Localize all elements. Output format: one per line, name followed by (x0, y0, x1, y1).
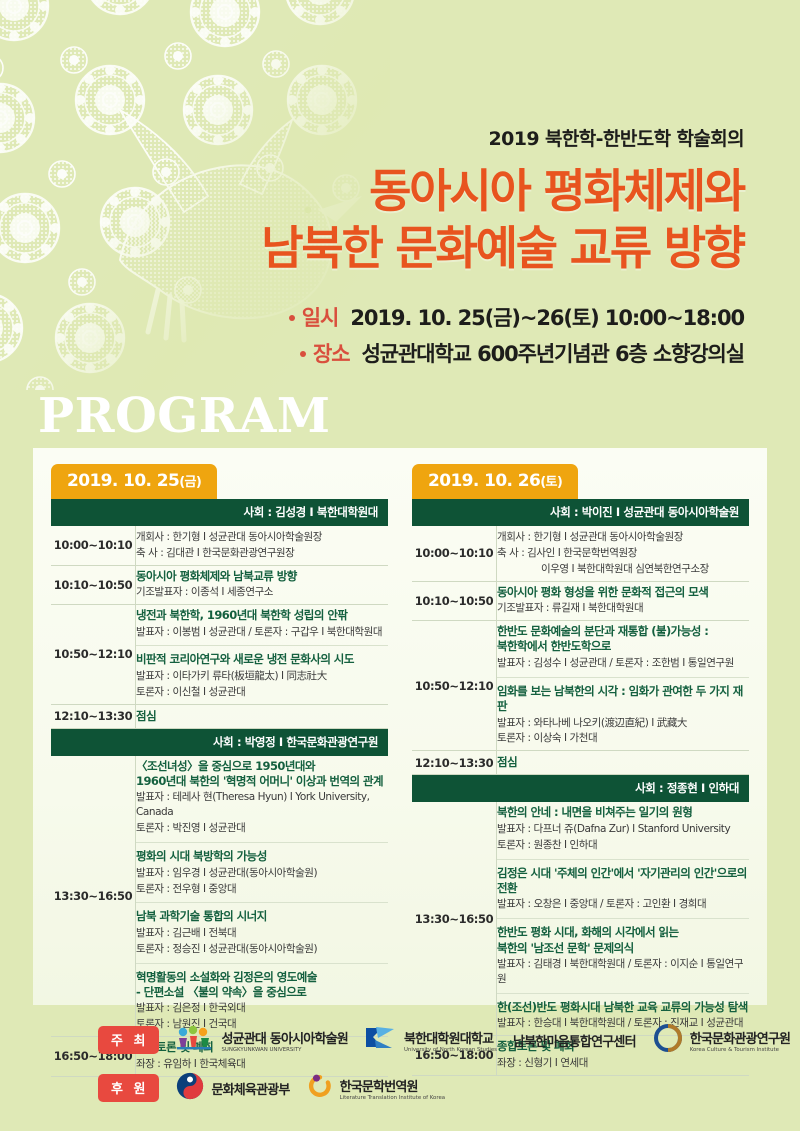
session-cell: 개회사 : 한기형 I 성균관대 동아시아학술원장축 사 : 김사인 I 한국문… (497, 526, 750, 581)
logo-name: 문화체육관광부 (211, 1079, 289, 1098)
host-tag: 주 최 (98, 1026, 159, 1054)
session-cell: 개회사 : 한기형 I 성균관대 동아시아학술원장축 사 : 김대관 I 한국문… (136, 526, 389, 565)
session-people: 토론자 : 정승진 I 성균관대(동아시아학술원) (136, 942, 388, 957)
logo-name: 남북한마음통합연구센터 (513, 1031, 636, 1050)
session-people: 토론자 : 원종찬 I 인하대 (497, 838, 749, 853)
time-cell: 10:50~12:10 (412, 621, 497, 751)
skku-logo-icon (175, 1025, 215, 1055)
session-people: 발표자 : 임우경 I 성균관대(동아시아학술원) (136, 866, 388, 881)
program-column-day2: 2019. 10. 26(토)사회 : 박이진 I 성균관대 동아시아학술원10… (400, 448, 767, 1005)
logo-center-logo: 남북한마음통합연구센터 (513, 1031, 636, 1050)
session-people: 개회사 : 한기형 I 성균관대 동아시아학술원장 (136, 530, 388, 545)
table-row: 10:50~12:10한반도 문화예술의 분단과 재통합 (불)가능성 :북한학… (412, 621, 749, 751)
poster-footer: 주 최성균관대 동아시아학술원SUNGKYUNKWAN UNIVERSITY북한… (0, 1016, 800, 1131)
table-row: 10:10~10:50동아시아 평화 형성을 위한 문화적 접근의 모색기조발표… (412, 581, 749, 620)
page-title: 동아시아 평화체제와 남북한 문화예술 교류 방향 (84, 163, 744, 276)
sponsor-row: 후 원문화체육관광부한국문학번역원Literature Translation … (0, 1064, 800, 1112)
schedule-table: 10:00~10:10개회사 : 한기형 I 성균관대 동아시아학술원장축 사 … (412, 526, 749, 775)
session-people: 발표자 : 와타나베 나오키(渡辺直紀) I 武藏大 (497, 716, 749, 731)
chair-bar: 사회 : 정종현 I 인하대 (412, 775, 749, 802)
session-block: 냉전과 북한학, 1960년대 북한학 성립의 안팎발표자 : 이봉범 I 성균… (136, 605, 388, 643)
session-block: 임화를 보는 남북한의 시각 : 임화가 관여한 두 가지 재판발표자 : 와타… (497, 677, 749, 751)
session-title: 점심 (497, 754, 749, 770)
day-tab-1: 2019. 10. 25(금) (51, 464, 217, 499)
date-value: 2019. 10. 25(금)~26(토) 10:00~18:00 (350, 302, 744, 332)
session-title: 북한의 안네 : 내면을 비쳐주는 일기의 원형 (497, 805, 749, 820)
program-heading: PROGRAM (38, 392, 331, 440)
table-row: 10:10~10:50동아시아 평화체제와 남북교류 방향기조발표자 : 이종석… (51, 565, 388, 604)
session-block: 점심 (136, 705, 388, 728)
chair-bar: 사회 : 김성경 I 북한대학원대 (51, 499, 388, 526)
session-people: 축 사 : 김사인 I 한국문학번역원장 (497, 546, 749, 561)
session-cell: 동아시아 평화체제와 남북교류 방향기조발표자 : 이종석 I 세종연구소 (136, 565, 389, 604)
session-cell: 한반도 문화예술의 분단과 재통합 (불)가능성 :북한학에서 한반도학으로발표… (497, 621, 750, 751)
session-cell: 동아시아 평화 형성을 위한 문화적 접근의 모색기조발표자 : 류길재 I 북… (497, 581, 750, 620)
program-column-day1: 2019. 10. 25(금)사회 : 김성경 I 북한대학원대10:00~10… (33, 448, 400, 1005)
chair-bar: 사회 : 박영정 I 한국문화관광연구원 (51, 729, 388, 756)
session-people: 발표자 : 김근배 I 전북대 (136, 926, 388, 941)
title-line-1: 동아시아 평화체제와 (369, 164, 744, 218)
session-title: 혁명활동의 소설화와 김정은의 영도예술- 단편소설 〈불의 약속〉을 중심으로 (136, 970, 388, 1001)
session-people: 발표자 : 이봉범 I 성균관대 / 토론자 : 구갑우 I 북한대학원대 (136, 625, 388, 640)
session-people: 토론자 : 전우형 I 중앙대 (136, 882, 388, 897)
session-people: 축 사 : 김대관 I 한국문화관광연구원장 (136, 546, 388, 561)
session-block: 동아시아 평화체제와 남북교류 방향기조발표자 : 이종석 I 세종연구소 (136, 566, 388, 604)
mcst-taegeuk-icon (175, 1071, 205, 1105)
ltikorea-logo-icon (306, 1072, 334, 1104)
conference-kicker: 2019 북한학-한반도학 학술회의 (84, 124, 744, 151)
session-people: 개회사 : 한기형 I 성균관대 동아시아학술원장 (497, 530, 749, 545)
session-title: 한반도 평화 시대, 화해의 시각에서 읽는북한의 '남조선 문학' 문제의식 (497, 925, 749, 956)
session-cell: 점심 (497, 751, 750, 775)
session-people: 토론자 : 이신철 I 성균관대 (136, 685, 388, 700)
logo-subtitle: SUNGKYUNKWAN UNIVERSITY (221, 1047, 348, 1053)
session-title: 평화의 시대 북방학의 가능성 (136, 849, 388, 864)
program-panel: 2019. 10. 25(금)사회 : 김성경 I 북한대학원대10:00~10… (33, 448, 767, 1005)
session-block: 동아시아 평화 형성을 위한 문화적 접근의 모색기조발표자 : 류길재 I 북… (497, 582, 749, 620)
table-row: 13:30~16:50〈조선녀성〉을 중심으로 1950년대와1960년대 북한… (51, 756, 388, 1037)
place-value: 성균관대학교 600주년기념관 6층 소향강의실 (362, 338, 744, 368)
date-label: 일시 (302, 302, 339, 332)
sponsor-tag: 후 원 (98, 1074, 159, 1102)
session-block: 한반도 문화예술의 분단과 재통합 (불)가능성 :북한학에서 한반도학으로발표… (497, 621, 749, 675)
logo-unks-logo: 북한대학원대학교University of North Korean Studi… (364, 1024, 497, 1056)
table-row: 13:30~16:50북한의 안네 : 내면을 비쳐주는 일기의 원형발표자 :… (412, 802, 749, 1035)
logo-name: 북한대학원대학교University of North Korean Studi… (404, 1028, 497, 1053)
session-people: 발표자 : 다프너 쥬(Dafna Zur) I Stanford Univer… (497, 822, 749, 837)
table-row: 10:50~12:10냉전과 북한학, 1960년대 북한학 성립의 안팎발표자… (51, 605, 388, 705)
unks-logo-icon (364, 1024, 398, 1056)
session-title: 한(조선)반도 평화시대 남북한 교육 교류의 가능성 탐색 (497, 1000, 749, 1015)
session-block: 〈조선녀성〉을 중심으로 1950년대와1960년대 북한의 '혁명적 어머니'… (136, 756, 388, 841)
session-people: 기조발표자 : 이종석 I 세종연구소 (136, 585, 388, 600)
session-people: 발표자 : 이타가키 류타(板垣龍太) I 同志社大 (136, 669, 388, 684)
time-cell: 10:00~10:10 (51, 526, 136, 565)
session-title: 동아시아 평화체제와 남북교류 방향 (136, 569, 388, 584)
session-people: 토론자 : 박진영 I 성균관대 (136, 821, 388, 836)
meta-row-date: 일시 2019. 10. 25(금)~26(토) 10:00~18:00 (84, 302, 744, 332)
session-title: 한반도 문화예술의 분단과 재통합 (불)가능성 :북한학에서 한반도학으로 (497, 624, 749, 655)
session-block: 남북 과학기술 통합의 시너지발표자 : 김근배 I 전북대토론자 : 정승진 … (136, 902, 388, 960)
session-people: 기조발표자 : 류길재 I 북한대학원대 (497, 601, 749, 616)
session-block: 평화의 시대 북방학의 가능성발표자 : 임우경 I 성균관대(동아시아학술원)… (136, 842, 388, 900)
session-people: 발표자 : 오창은 I 중앙대 / 토론자 : 고인환 I 경희대 (497, 897, 749, 912)
poster-header: 2019 북한학-한반도학 학술회의 동아시아 평화체제와 남북한 문화예술 교… (84, 124, 744, 374)
session-people: 발표자 : 김은정 I 한국외대 (136, 1001, 388, 1016)
session-block: 김정은 시대 '주체의 인간'에서 '자기관리의 인간'으로의 전환발표자 : … (497, 859, 749, 917)
title-line-2: 남북한 문화예술 교류 방향 (84, 220, 744, 277)
logo-subtitle: Literature Translation Institute of Kore… (340, 1095, 445, 1101)
session-cell: 냉전과 북한학, 1960년대 북한학 성립의 안팎발표자 : 이봉범 I 성균… (136, 605, 389, 705)
session-cell: 북한의 안네 : 내면을 비쳐주는 일기의 원형발표자 : 다프너 쥬(Dafn… (497, 802, 750, 1035)
table-row: 10:00~10:10개회사 : 한기형 I 성균관대 동아시아학술원장축 사 … (51, 526, 388, 565)
kcti-logo-icon (652, 1022, 684, 1058)
session-block: 한반도 평화 시대, 화해의 시각에서 읽는북한의 '남조선 문학' 문제의식발… (497, 918, 749, 991)
logo-mcst-taegeuk: 문화체육관광부 (175, 1071, 289, 1105)
session-block: 비판적 코리아연구와 새로운 냉전 문화사의 시도발표자 : 이타가키 류타(板… (136, 645, 388, 703)
time-cell: 12:10~13:30 (412, 751, 497, 775)
session-title: 남북 과학기술 통합의 시너지 (136, 909, 388, 924)
time-cell: 10:50~12:10 (51, 605, 136, 705)
session-title: 점심 (136, 708, 388, 724)
time-cell: 12:10~13:30 (51, 704, 136, 728)
session-title: 김정은 시대 '주체의 인간'에서 '자기관리의 인간'으로의 전환 (497, 866, 749, 897)
logo-subtitle: University of North Korean Studies (404, 1047, 497, 1053)
logo-name: 한국문화관광연구원Korea Culture & Tourism Institu… (690, 1028, 790, 1053)
day-tab-2: 2019. 10. 26(토) (412, 464, 578, 499)
session-cell: 점심 (136, 704, 389, 728)
session-cell: 〈조선녀성〉을 중심으로 1950년대와1960년대 북한의 '혁명적 어머니'… (136, 756, 389, 1037)
logo-skku-logo: 성균관대 동아시아학술원SUNGKYUNKWAN UNIVERSITY (175, 1025, 348, 1055)
session-block: 개회사 : 한기형 I 성균관대 동아시아학술원장축 사 : 김대관 I 한국문… (136, 526, 388, 565)
session-title: 동아시아 평화 형성을 위한 문화적 접근의 모색 (497, 585, 749, 600)
session-people: 발표자 : 김성수 I 성균관대 / 토론자 : 조한범 I 통일연구원 (497, 656, 749, 671)
session-people: 이우영 I 북한대학원대 심연북한연구소장 (497, 562, 749, 577)
table-row: 12:10~13:30점심 (51, 704, 388, 728)
bullet-dot-icon (289, 315, 295, 321)
table-row: 12:10~13:30점심 (412, 751, 749, 775)
meta-row-place: 장소 성균관대학교 600주년기념관 6층 소향강의실 (84, 338, 744, 368)
time-cell: 13:30~16:50 (51, 756, 136, 1037)
session-title: 냉전과 북한학, 1960년대 북한학 성립의 안팎 (136, 608, 388, 623)
logo-subtitle: Korea Culture & Tourism Institute (690, 1047, 790, 1053)
day-of-week: (토) (540, 475, 562, 490)
logo-kcti-logo: 한국문화관광연구원Korea Culture & Tourism Institu… (652, 1022, 790, 1058)
day-of-week: (금) (179, 475, 201, 490)
host-row: 주 최성균관대 동아시아학술원SUNGKYUNKWAN UNIVERSITY북한… (0, 1016, 800, 1064)
chair-bar: 사회 : 박이진 I 성균관대 동아시아학술원 (412, 499, 749, 526)
session-people: 발표자 : 테레사 현(Theresa Hyun) I York Univers… (136, 790, 388, 820)
session-block: 북한의 안네 : 내면을 비쳐주는 일기의 원형발표자 : 다프너 쥬(Dafn… (497, 802, 749, 856)
session-block: 점심 (497, 751, 749, 774)
time-cell: 10:10~10:50 (51, 565, 136, 604)
session-title: 〈조선녀성〉을 중심으로 1950년대와1960년대 북한의 '혁명적 어머니'… (136, 759, 388, 790)
session-people: 발표자 : 김태경 I 북한대학원대 / 토론자 : 이지순 I 통일연구원 (497, 957, 749, 987)
time-cell: 13:30~16:50 (412, 802, 497, 1035)
schedule-table: 10:00~10:10개회사 : 한기형 I 성균관대 동아시아학술원장축 사 … (51, 526, 388, 729)
session-people: 토론자 : 이상숙 I 가천대 (497, 731, 749, 746)
time-cell: 10:00~10:10 (412, 526, 497, 581)
place-label: 장소 (313, 338, 350, 368)
time-cell: 10:10~10:50 (412, 581, 497, 620)
logo-name: 한국문학번역원Literature Translation Institute … (340, 1076, 445, 1101)
logo-ltikorea-logo: 한국문학번역원Literature Translation Institute … (306, 1072, 445, 1104)
event-meta: 일시 2019. 10. 25(금)~26(토) 10:00~18:00 장소 … (84, 302, 744, 368)
table-row: 10:00~10:10개회사 : 한기형 I 성균관대 동아시아학술원장축 사 … (412, 526, 749, 581)
logo-name: 성균관대 동아시아학술원SUNGKYUNKWAN UNIVERSITY (221, 1028, 348, 1053)
session-block: 개회사 : 한기형 I 성균관대 동아시아학술원장축 사 : 김사인 I 한국문… (497, 526, 749, 581)
session-title: 임화를 보는 남북한의 시각 : 임화가 관여한 두 가지 재판 (497, 684, 749, 715)
bullet-dot-icon (300, 351, 306, 357)
session-title: 비판적 코리아연구와 새로운 냉전 문화사의 시도 (136, 652, 388, 667)
poster-root: 2019 북한학-한반도학 학술회의 동아시아 평화체제와 남북한 문화예술 교… (0, 0, 800, 1131)
